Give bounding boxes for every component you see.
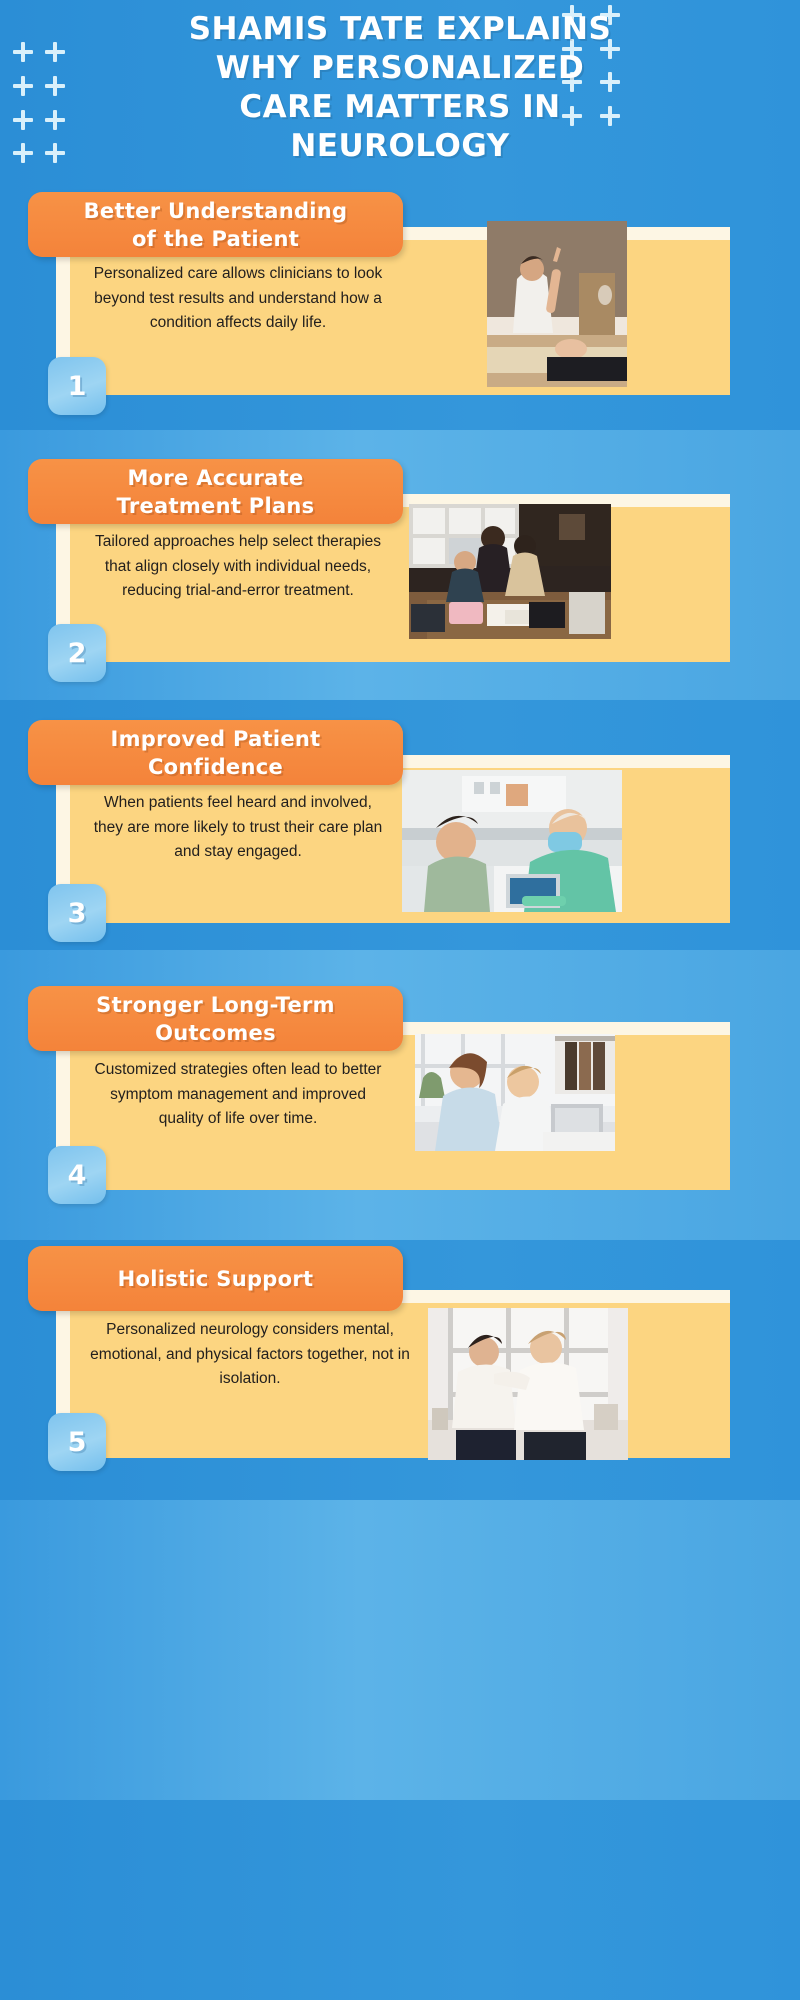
card-3-heading: Improved Patient Confidence: [96, 725, 334, 781]
card-4-image: [415, 1034, 615, 1151]
card-4-heading-line-2: Outcomes: [155, 1021, 276, 1045]
card-4-heading-line-1: Stronger Long-Term: [96, 993, 335, 1017]
card-5-heading-pill: Holistic Support: [28, 1246, 403, 1311]
card-5-image: [428, 1308, 628, 1460]
card-3-heading-line-2: Confidence: [148, 755, 283, 779]
card-2-heading: More Accurate Treatment Plans: [103, 464, 329, 520]
background-band-7: [0, 1800, 800, 2000]
card-1-photo-art: [487, 221, 627, 387]
card-4-heading: Stronger Long-Term Outcomes: [82, 991, 349, 1047]
card-2-heading-line-1: More Accurate: [127, 466, 303, 490]
card-5-heading-line-1: Holistic Support: [118, 1267, 314, 1291]
card-3-heading-line-1: Improved Patient: [110, 727, 320, 751]
card-3-body: When patients feel heard and involved, t…: [88, 791, 388, 865]
card-1-number: 1: [68, 371, 87, 402]
card-2-heading-line-2: Treatment Plans: [117, 494, 315, 518]
title-line-2: WHY PERSONALIZED: [120, 49, 680, 88]
page-title: SHAMIS TATE EXPLAINS WHY PERSONALIZED CA…: [120, 10, 680, 166]
card-2-number: 2: [68, 638, 87, 669]
title-line-3: CARE MATTERS IN: [120, 88, 680, 127]
card-2-image: [409, 504, 611, 639]
card-1-heading-line-1: Better Understanding: [84, 199, 348, 223]
card-4-body: Customized strategies often lead to bett…: [88, 1058, 388, 1132]
card-5-photo-art: [428, 1308, 628, 1460]
title-line-4: NEUROLOGY: [120, 127, 680, 166]
card-2-photo-art: [409, 504, 611, 639]
card-5-heading: Holistic Support: [104, 1265, 328, 1293]
card-3-number: 3: [68, 898, 87, 929]
card-1-heading-pill: Better Understanding of the Patient: [28, 192, 403, 257]
card-4-photo-art: [415, 1034, 615, 1151]
card-4-number-badge: 4: [48, 1146, 106, 1204]
card-1-heading-line-2: of the Patient: [132, 227, 299, 251]
card-2-heading-pill: More Accurate Treatment Plans: [28, 459, 403, 524]
card-5-number-badge: 5: [48, 1413, 106, 1471]
card-1-image: [487, 221, 627, 387]
card-3-photo-art: [402, 770, 622, 912]
infographic-page: SHAMIS TATE EXPLAINS WHY PERSONALIZED CA…: [0, 0, 800, 2000]
card-2-number-badge: 2: [48, 624, 106, 682]
card-5-number: 5: [68, 1427, 87, 1458]
card-4-number: 4: [68, 1160, 87, 1191]
title-line-1: SHAMIS TATE EXPLAINS: [120, 10, 680, 49]
card-5-body: Personalized neurology considers mental,…: [78, 1318, 422, 1392]
card-1-number-badge: 1: [48, 357, 106, 415]
card-3-heading-pill: Improved Patient Confidence: [28, 720, 403, 785]
card-4-heading-pill: Stronger Long-Term Outcomes: [28, 986, 403, 1051]
card-1-heading: Better Understanding of the Patient: [70, 197, 362, 253]
header: SHAMIS TATE EXPLAINS WHY PERSONALIZED CA…: [0, 0, 800, 190]
card-2-body: Tailored approaches help select therapie…: [88, 530, 388, 604]
card-3-number-badge: 3: [48, 884, 106, 942]
card-3-image: [402, 770, 622, 912]
background-band-6: [0, 1500, 800, 1800]
card-1-body: Personalized care allows clinicians to l…: [88, 262, 388, 336]
